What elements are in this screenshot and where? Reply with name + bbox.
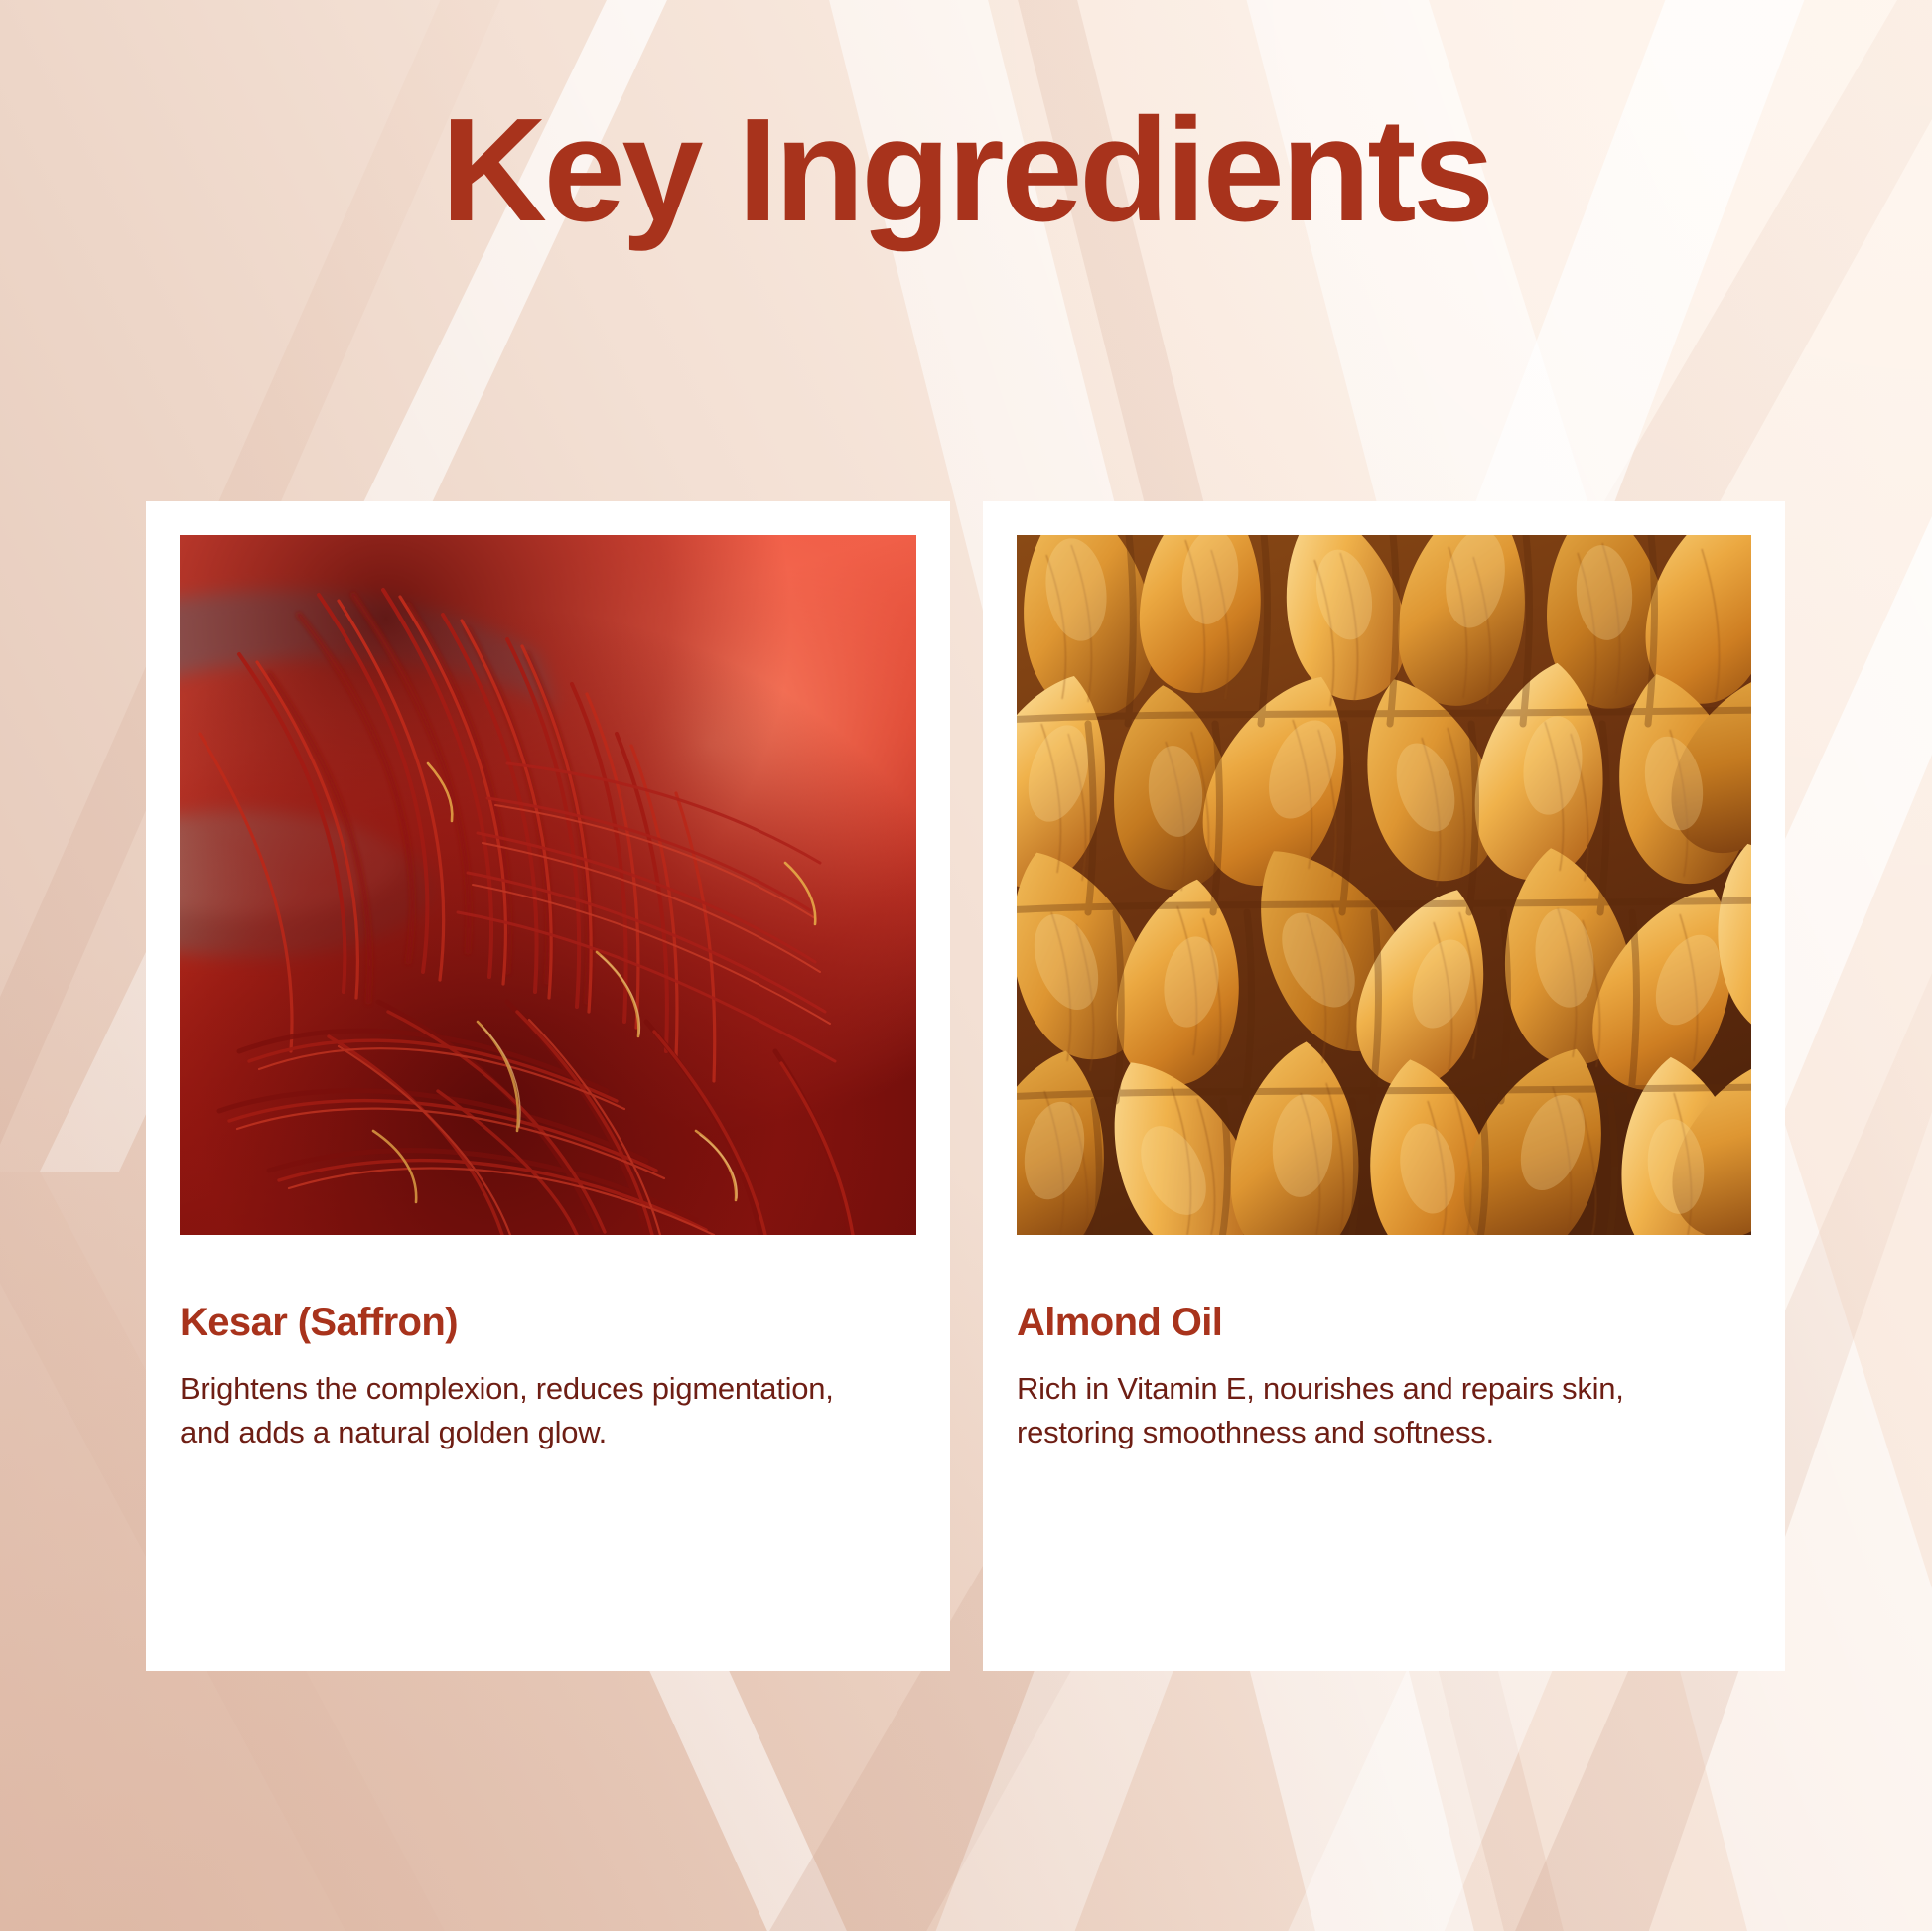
card-heading-almond: Almond Oil	[1017, 1301, 1751, 1345]
card-heading-kesar: Kesar (Saffron)	[180, 1301, 916, 1345]
almonds-photo	[1017, 535, 1751, 1235]
ingredient-card-kesar-saffron[interactable]: Kesar (Saffron) Brightens the complexion…	[146, 501, 950, 1671]
saffron-threads-photo	[180, 535, 916, 1235]
card-description-kesar: Brightens the complexion, reduces pigmen…	[180, 1367, 875, 1454]
card-body-kesar: Kesar (Saffron) Brightens the complexion…	[180, 1301, 916, 1454]
page-title: Key Ingredients	[0, 91, 1932, 250]
card-description-almond: Rich in Vitamin E, nourishes and repairs…	[1017, 1367, 1712, 1454]
ingredient-card-almond-oil[interactable]: Almond Oil Rich in Vitamin E, nourishes …	[983, 501, 1785, 1671]
card-body-almond: Almond Oil Rich in Vitamin E, nourishes …	[1017, 1301, 1751, 1454]
